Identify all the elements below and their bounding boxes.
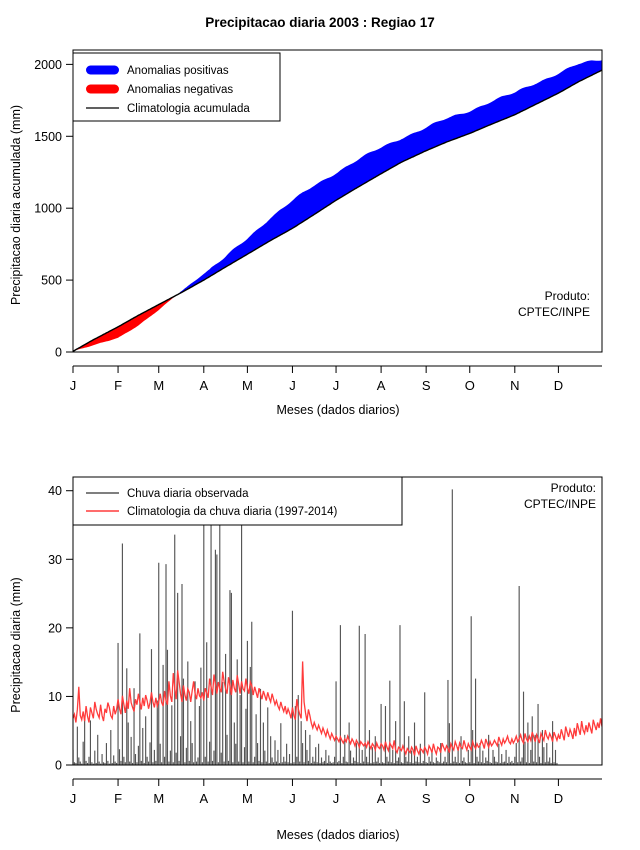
- month-label-bottom: F: [114, 791, 122, 806]
- page-title: Precipitacao diaria 2003 : Regiao 17: [205, 15, 435, 30]
- y-tick-label-top: 2000: [34, 58, 62, 72]
- month-label-top: N: [510, 378, 519, 393]
- y-tick-label-top: 1000: [34, 202, 62, 216]
- credit-line-2-bottom: CPTEC/INPE: [524, 497, 596, 511]
- month-label-top: D: [554, 378, 563, 393]
- legend-label-bottom-0: Chuva diaria observada: [127, 488, 249, 500]
- month-label-top: A: [377, 378, 386, 393]
- month-label-bottom: J: [70, 791, 77, 806]
- accumulated-precipitation-panel: Precipitacao diaria 2003 : Regiao 17 Pre…: [0, 0, 640, 430]
- month-label-top: J: [70, 378, 77, 393]
- month-label-bottom: O: [465, 791, 475, 806]
- daily-precipitation-panel: Precipitacao diaria (mm) Meses (dados di…: [0, 430, 640, 850]
- daily-plot-area: 010203040JFMAMJJASOND: [48, 477, 602, 806]
- legend-label-bottom-1: Climatologia da chuva diaria (1997-2014): [127, 506, 337, 518]
- month-label-bottom: S: [422, 791, 431, 806]
- daily-chart-svg: Precipitacao diaria (mm) Meses (dados di…: [0, 430, 640, 850]
- y-tick-label-bottom: 0: [55, 759, 62, 773]
- month-label-bottom: N: [510, 791, 519, 806]
- month-label-top: J: [333, 378, 340, 393]
- x-axis-title-top: Meses (dados diarios): [277, 403, 400, 417]
- month-label-bottom: A: [199, 791, 208, 806]
- y-axis-title-bottom: Precipitacao diaria (mm): [9, 577, 23, 712]
- accumulated-chart-svg: Precipitacao diaria 2003 : Regiao 17 Pre…: [0, 0, 640, 430]
- month-label-top: M: [242, 378, 253, 393]
- y-tick-label-top: 1500: [34, 130, 62, 144]
- legend-accumulated: Anomalias positivasAnomalias negativasCl…: [73, 53, 280, 121]
- legend-label-top-0: Anomalias positivas: [127, 65, 229, 77]
- legend-daily: Chuva diaria observadaClimatologia da ch…: [73, 477, 402, 525]
- month-label-bottom: M: [242, 791, 253, 806]
- credit-line-2-top: CPTEC/INPE: [518, 305, 590, 319]
- month-label-top: F: [114, 378, 122, 393]
- legend-swatch-1: [86, 85, 119, 94]
- y-tick-label-bottom: 30: [48, 553, 62, 567]
- month-label-top: O: [465, 378, 475, 393]
- x-axis-title-bottom: Meses (dados diarios): [277, 828, 400, 842]
- credit-line-1-top: Produto:: [545, 289, 590, 303]
- month-label-bottom: J: [333, 791, 340, 806]
- month-label-bottom: D: [554, 791, 563, 806]
- y-axis-title-top: Precipitacao diaria acumulada (mm): [9, 105, 23, 305]
- legend-label-top-2: Climatologia acumulada: [127, 103, 250, 115]
- legend-swatch-0: [86, 66, 119, 75]
- y-tick-label-top: 0: [55, 346, 62, 360]
- y-tick-label-bottom: 10: [48, 690, 62, 704]
- legend-label-top-1: Anomalias negativas: [127, 84, 233, 96]
- month-label-bottom: A: [377, 791, 386, 806]
- daily-climatology-line: [73, 661, 602, 755]
- month-label-top: J: [289, 378, 296, 393]
- credit-line-1-bottom: Produto:: [551, 481, 596, 495]
- month-label-top: M: [153, 378, 164, 393]
- month-label-top: A: [199, 378, 208, 393]
- month-label-top: S: [422, 378, 431, 393]
- y-tick-label-bottom: 20: [48, 621, 62, 635]
- month-label-bottom: J: [289, 791, 296, 806]
- y-tick-label-top: 500: [41, 274, 62, 288]
- month-label-bottom: M: [153, 791, 164, 806]
- y-tick-label-bottom: 40: [48, 484, 62, 498]
